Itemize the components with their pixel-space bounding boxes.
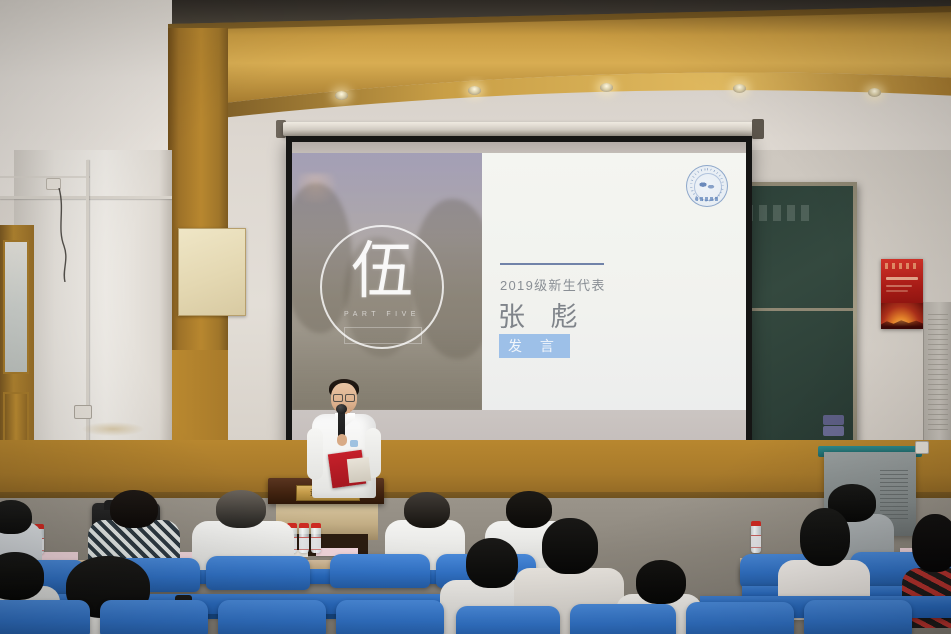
audience-head — [216, 490, 266, 528]
shirt-logo — [350, 440, 358, 447]
audience-head — [800, 508, 850, 566]
projector-screen: 伍 PART FIVE 2019级新生代表 张 彪 发 言 — [292, 142, 746, 455]
speaker-arm-left — [307, 428, 323, 480]
poster-header-text — [885, 263, 919, 269]
audience-head — [466, 538, 518, 588]
chair[interactable] — [100, 600, 208, 634]
hanging-wire — [56, 188, 72, 282]
slide-speaker-name: 张 彪 — [498, 295, 587, 334]
audience-head — [506, 491, 552, 528]
slide-kicker-text: 2019级新生代表 — [500, 275, 606, 294]
bottle-cap — [751, 521, 761, 526]
audience-head — [110, 490, 158, 528]
university-seal-icon — [686, 165, 728, 207]
lecture-hall-photo: 伍 PART FIVE 2019级新生代表 张 彪 发 言 — [0, 0, 951, 634]
chair[interactable] — [686, 602, 794, 634]
speech-paper — [347, 457, 371, 483]
audience-head — [912, 514, 951, 572]
glasses-icon — [333, 394, 355, 400]
bottle-label — [751, 535, 761, 548]
wall-socket — [74, 405, 92, 419]
audience-head — [404, 492, 450, 528]
projector-screen-housing — [283, 122, 759, 136]
seal-wave-mark — [695, 197, 719, 201]
chalk-eraser — [823, 415, 844, 425]
vent-slats — [928, 314, 948, 434]
bottle-label — [311, 537, 321, 550]
door-glass-panel — [3, 240, 29, 374]
speaker-hand — [337, 434, 347, 446]
wall-stain — [82, 422, 144, 436]
red-propaganda-poster — [881, 259, 923, 329]
poster-subtitle-line — [886, 285, 912, 287]
cabinet-vent-grille — [880, 470, 908, 522]
section-label: PART FIVE — [320, 311, 444, 318]
seal-emblem-mark — [697, 179, 717, 193]
chalk-residue — [745, 205, 815, 221]
audience-head — [636, 560, 686, 604]
poster-title-line — [886, 277, 918, 280]
projected-slide: 伍 PART FIVE 2019级新生代表 张 彪 发 言 — [292, 153, 746, 410]
chair[interactable] — [206, 556, 310, 590]
emblem-sub-box — [344, 327, 422, 344]
chair[interactable] — [0, 600, 90, 634]
audience-head — [0, 552, 44, 600]
slide-action-badge: 发 言 — [499, 334, 570, 358]
bottle-cap — [311, 523, 321, 528]
chalk-eraser — [823, 426, 844, 436]
soffit-downlight-strip — [230, 76, 951, 110]
wall-plaque — [178, 228, 246, 316]
handout-paper — [38, 552, 78, 560]
downlight-icon — [335, 91, 348, 100]
poster-body-line — [886, 290, 908, 292]
chair[interactable] — [218, 600, 326, 634]
downlight-icon — [733, 84, 746, 93]
bottle-label — [299, 537, 309, 550]
screen-roller-end-right — [752, 119, 764, 139]
slide-section-emblem: 伍 PART FIVE — [320, 225, 444, 349]
wall-vent-panel — [923, 302, 951, 452]
audience-head — [542, 518, 598, 574]
wall-outlet-right — [915, 441, 929, 454]
conduit-horizontal-2 — [0, 176, 90, 178]
screen-top-band — [292, 142, 746, 153]
section-number: 伍 — [320, 241, 444, 303]
chair[interactable] — [336, 600, 444, 634]
chair[interactable] — [456, 606, 560, 634]
slide-accent-rule — [500, 263, 604, 265]
downlight-icon — [600, 83, 613, 92]
chair[interactable] — [570, 604, 676, 634]
downlight-icon — [868, 88, 881, 97]
bottle-cap — [299, 523, 309, 528]
chair[interactable] — [804, 600, 912, 634]
downlight-icon — [468, 86, 481, 95]
audience-head — [0, 500, 32, 534]
microphone-head — [336, 404, 347, 414]
chair[interactable] — [330, 554, 430, 588]
